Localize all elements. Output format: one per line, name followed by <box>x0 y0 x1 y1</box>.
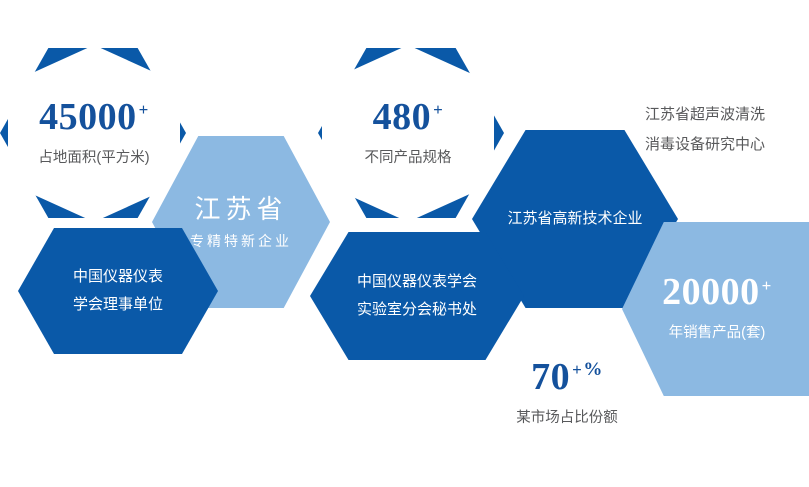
badge-council-line1: 中国仪器仪表 <box>73 263 163 292</box>
specs-stat-value: 480+ <box>373 98 444 136</box>
badge-lab-secretariat[interactable]: 中国仪器仪表学会 实验室分会秘书处 <box>310 232 524 360</box>
badge-province-title: 江苏省 <box>194 193 287 226</box>
research-center-text: 江苏省超声波清洗 消毒设备研究中心 <box>645 100 765 160</box>
specs-stat-caption: 不同产品规格 <box>365 147 452 169</box>
badge-council-line2: 学会理事单位 <box>73 291 163 320</box>
market-share-caption: 某市场占比份额 <box>492 407 642 429</box>
area-stat-caption: 占地面积(平方米) <box>38 147 149 169</box>
badge-lab-line1: 中国仪器仪表学会 <box>357 268 477 297</box>
research-center-line2: 消毒设备研究中心 <box>645 130 765 160</box>
research-center-line1: 江苏省超声波清洗 <box>645 100 765 130</box>
badge-province-subtitle: 专精特新企业 <box>190 231 292 251</box>
area-stat-value: 45000+ <box>39 98 149 136</box>
badge-instrument-council[interactable]: 中国仪器仪表 学会理事单位 <box>18 228 218 354</box>
sales-stat-caption: 年销售产品(套) <box>669 322 766 344</box>
infographic-canvas: 45000+ 占地面积(平方米) 480+ 不同产品规格 江苏省 专精特新企业 … <box>0 0 809 487</box>
badge-hitech-label: 江苏省高新技术企业 <box>507 205 642 234</box>
market-share-stat: 70+% 某市场占比份额 <box>492 358 642 429</box>
sales-stat-value: 20000+ <box>662 273 772 311</box>
badge-lab-line2: 实验室分会秘书处 <box>357 296 477 325</box>
market-share-value: 70+% <box>492 358 642 396</box>
area-stat-card[interactable]: 45000+ 占地面积(平方米) <box>8 45 180 222</box>
